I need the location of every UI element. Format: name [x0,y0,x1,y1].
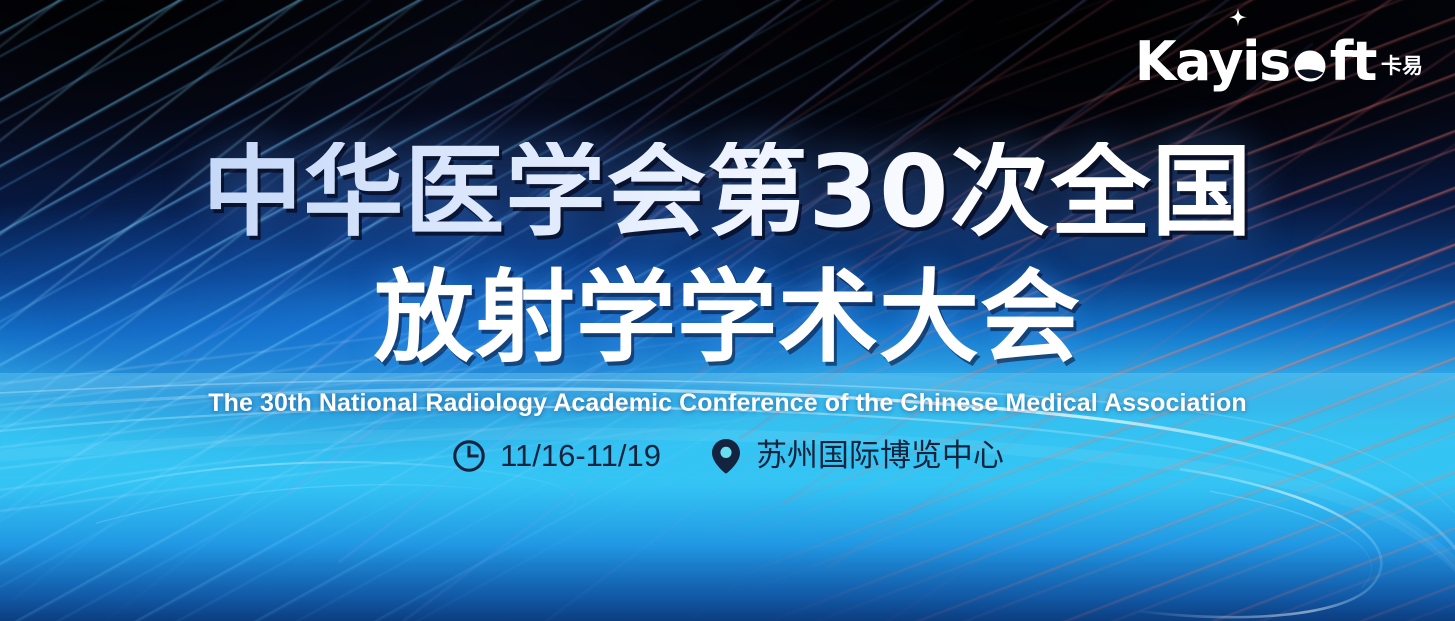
logo-o-swoosh-icon [1290,41,1330,81]
meta-info-row: 11/16-11/19 苏州国际博览中心 [0,437,1455,475]
logo-text-after-o: ft [1330,30,1376,93]
logo-wordmark: Kayis ft [1135,36,1376,87]
conference-date-text: 11/16-11/19 [500,440,661,473]
subtitle-english: The 30th National Radiology Academic Con… [0,389,1455,418]
conference-banner: Kayis ft 卡易 中华医学会第30次全国 放射学学术大会 The 30th… [0,0,1455,621]
logo-text-before-o: Kayis [1135,30,1290,93]
logo-chinese-name: 卡易 [1381,50,1423,87]
title-line-2: 放射学学术大会 [0,268,1455,368]
title-line-1: 中华医学会第30次全国 [0,142,1455,242]
map-pin-icon [709,437,743,475]
clock-icon [451,438,487,474]
conference-location: 苏州国际博览中心 [709,437,1004,475]
conference-date: 11/16-11/19 [451,438,661,474]
kayisoft-logo[interactable]: Kayis ft 卡易 [1135,36,1423,87]
conference-location-text: 苏州国际博览中心 [756,440,1004,473]
